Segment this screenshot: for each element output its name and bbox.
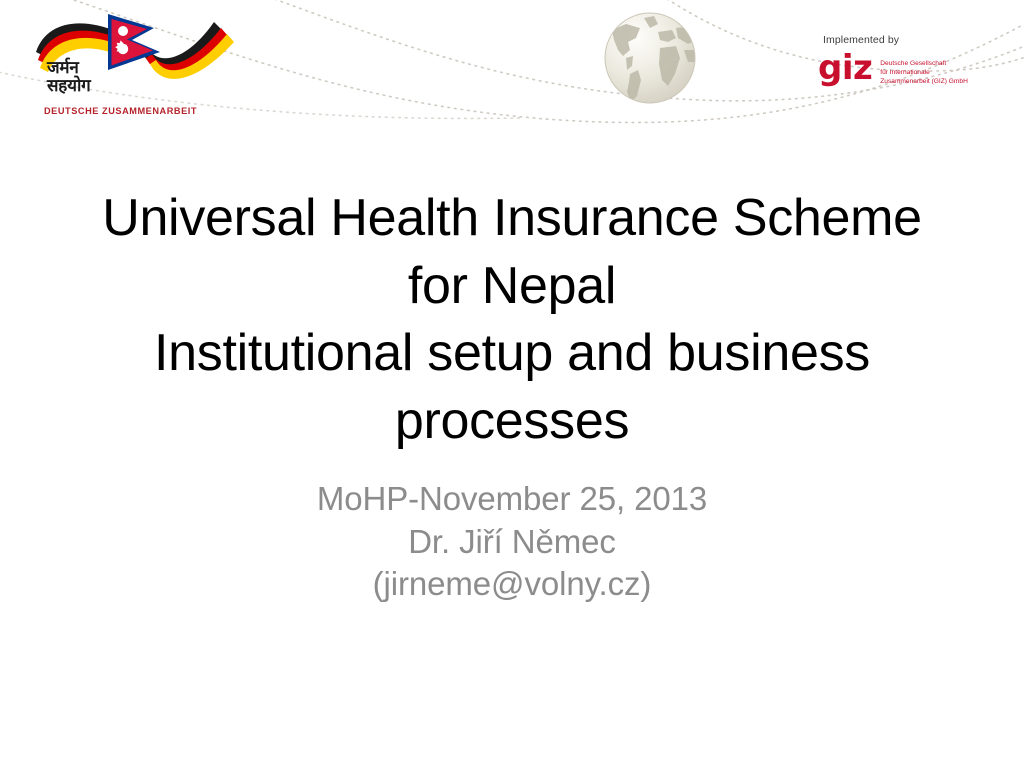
subtitle-line-author: Dr. Jiří Němec: [62, 521, 962, 564]
subtitle-line-event-date: MoHP-November 25, 2013: [62, 478, 962, 521]
title-line-2: for Nepal: [62, 253, 962, 321]
german-cooperation-devanagari: जर्मन सहयोग: [47, 60, 177, 95]
title-line-4: processes: [62, 388, 962, 456]
giz-wordmark: giz: [818, 55, 872, 83]
deutsche-zusammenarbeit-caption: DEUTSCHE ZUSAMMENARBEIT: [44, 106, 197, 116]
subtitle-line-email: (jirneme@volny.cz): [62, 563, 962, 606]
slide-title: Universal Health Insurance Scheme for Ne…: [62, 185, 962, 455]
title-line-1: Universal Health Insurance Scheme: [62, 185, 962, 253]
slide-subtitle: MoHP-November 25, 2013 Dr. Jiří Němec (j…: [62, 478, 962, 606]
giz-legal-name: Deutsche Gesellschaft für Internationale…: [872, 55, 968, 86]
globe-graphic: [596, 4, 704, 112]
implemented-by-label: Implemented by: [823, 34, 1004, 46]
german-cooperation-logo: जर्मन सहयोग DEUTSCHE ZUSAMMENARBEIT: [30, 8, 240, 126]
slide-canvas: जर्मन सहयोग DEUTSCHE ZUSAMMENARBEIT Impl…: [0, 0, 1024, 768]
devanagari-line-2: सहयोग: [47, 78, 177, 96]
giz-legal-line-2: für Internationale: [880, 68, 968, 77]
giz-legal-line-3: Zusammenarbeit (GIZ) GmbH: [880, 77, 968, 86]
giz-legal-line-1: Deutsche Gesellschaft: [880, 59, 968, 68]
title-line-3: Institutional setup and business: [62, 320, 962, 388]
giz-logo: Implemented by giz Deutsche Gesellschaft…: [818, 34, 1004, 106]
giz-wordmark-row: giz Deutsche Gesellschaft für Internatio…: [818, 55, 1004, 86]
